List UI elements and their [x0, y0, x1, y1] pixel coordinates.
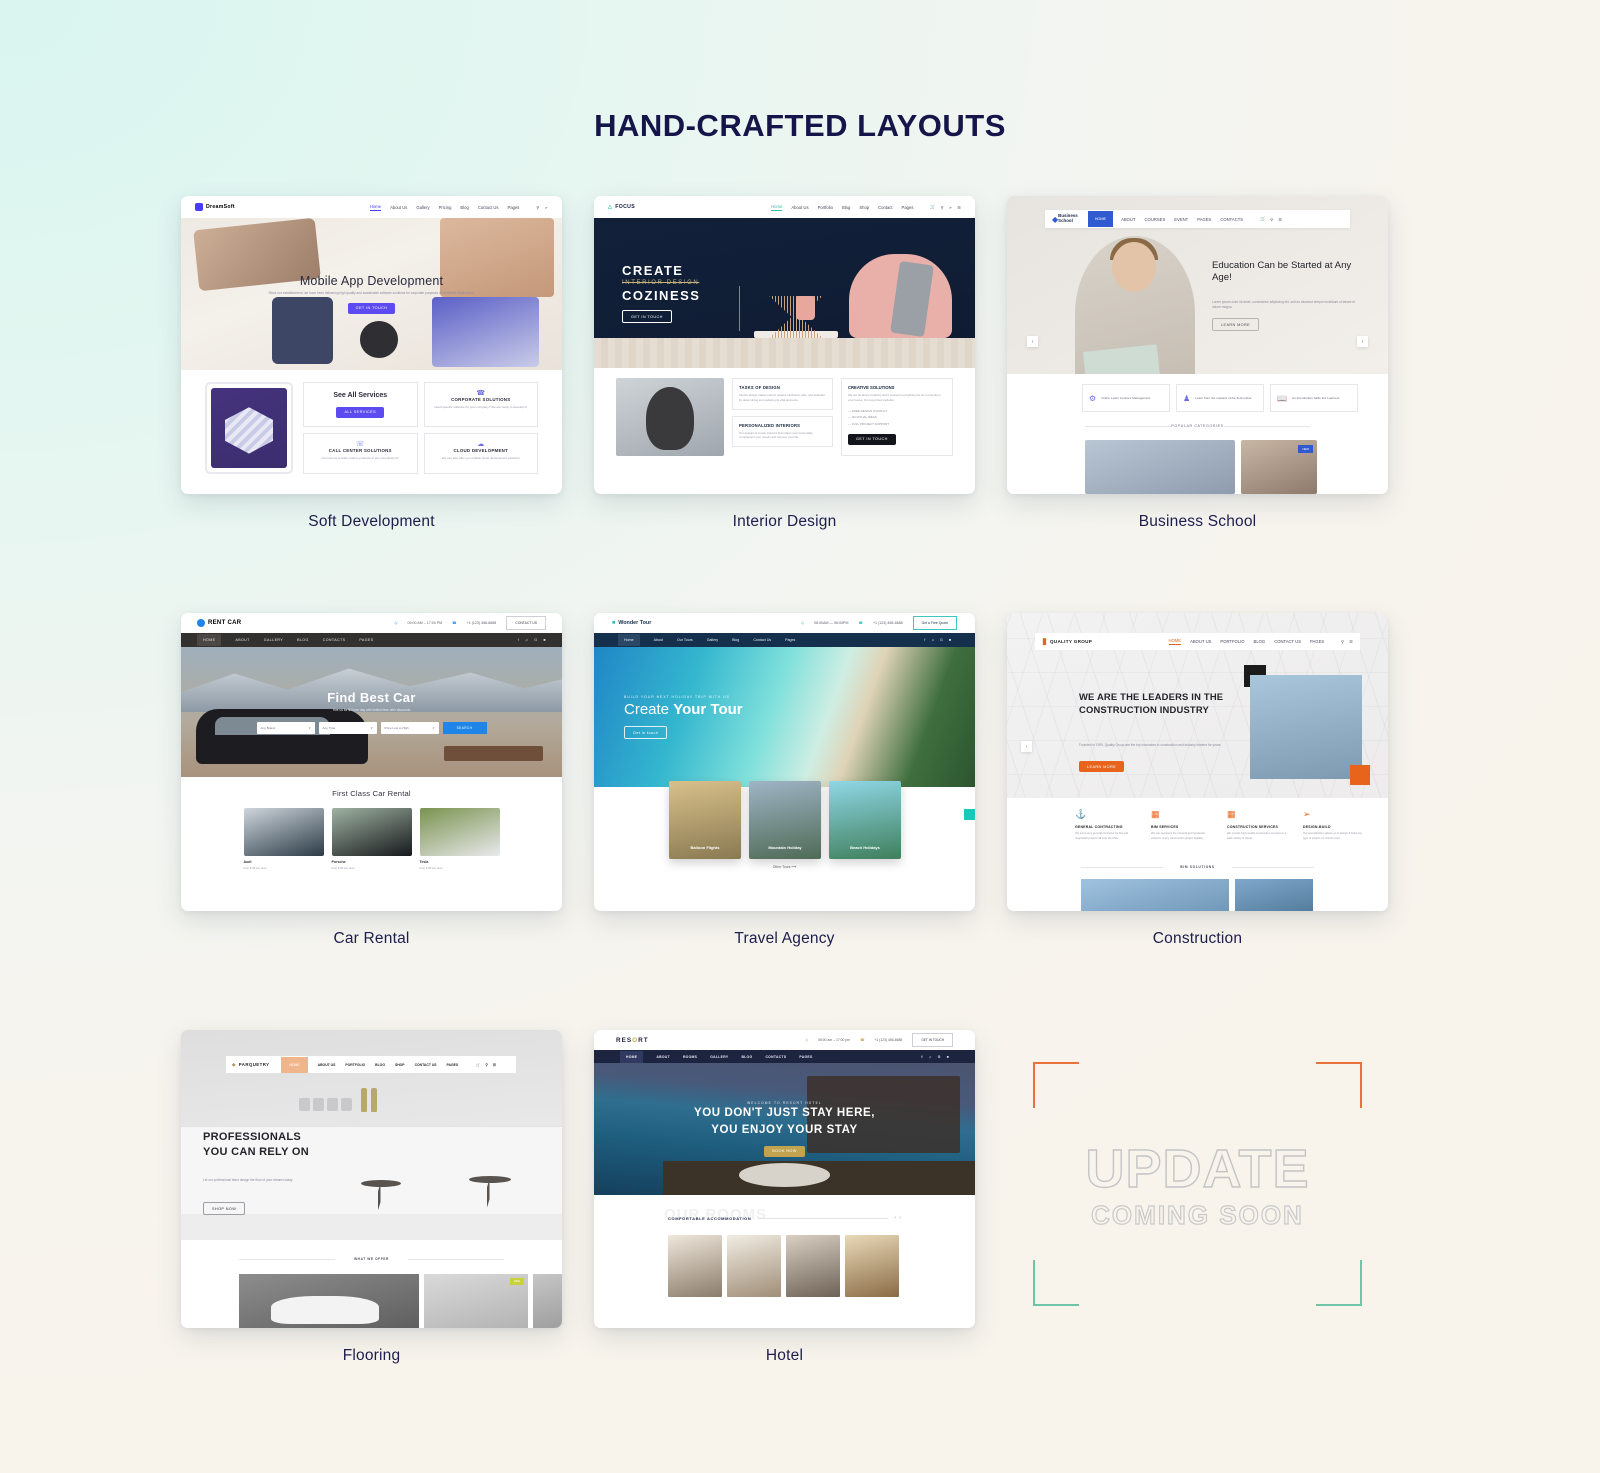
share-icon[interactable]: ➢: [949, 205, 953, 210]
car-photo: [332, 808, 412, 856]
hero-banner: CREATE INTERIOR DESIGN COZINESS GET IN T…: [594, 218, 975, 368]
service-text: Need specific software for your company?…: [430, 405, 533, 410]
site-logo: RENT CAR: [197, 619, 241, 627]
nav-item-shop[interactable]: SHOP: [395, 1063, 405, 1067]
card-label: Hotel: [594, 1347, 975, 1365]
google-plus-icon[interactable]: G: [938, 1055, 941, 1059]
cart-icon[interactable]: 🛒: [476, 1063, 480, 1067]
nav-icons[interactable]: 🛒 ⚲ ➢ ☰: [930, 204, 961, 210]
nav-item-about[interactable]: About Us: [390, 205, 407, 210]
service-item[interactable]: ⚓ GENERAL CONTRACTING We serve as a gene…: [1075, 809, 1137, 841]
carousel-prev-arrow[interactable]: ‹: [895, 1215, 897, 1221]
hero-title: Education Can be Started at Any Age!: [1212, 260, 1372, 285]
isometric-cube-icon: [225, 407, 274, 453]
layout-card-interior-design[interactable]: △ FOCUS Home About Us Portfolio Blog Sho…: [594, 196, 975, 531]
service-title: GENERAL CONTRACTING: [1075, 825, 1137, 829]
nav-item-about[interactable]: ABOUT US: [318, 1063, 336, 1067]
feature-title: CREATIVE SOLUTIONS: [848, 385, 946, 390]
nav-item-courses[interactable]: COURSES: [1145, 217, 1166, 222]
nav-item-home[interactable]: HOME: [1169, 638, 1182, 645]
nav-item-pages[interactable]: Pages: [902, 205, 914, 210]
nav-item-blog[interactable]: Blog: [732, 638, 739, 642]
service-title: CLOUD DEVELOPMENT: [430, 448, 533, 453]
nav-item-pages[interactable]: PAGES: [359, 638, 373, 642]
see-all-tile[interactable]: See All Services ALL SERVICES: [303, 382, 418, 427]
chevron-down-icon: ▾: [433, 726, 435, 730]
preview-flooring[interactable]: ◈ PARQUETRY HOME ABOUT US PORTFOLIO BLOG…: [181, 1030, 562, 1328]
price-select[interactable]: Price Low to High ▾: [381, 722, 439, 734]
contact-info: ◷ 09:00 AM – 17:00 PM ☎ +1 (123) 456-668…: [394, 616, 546, 630]
section-heading: COMFORTABLE ACCOMMODATION: [668, 1216, 751, 1221]
product-thumbnail[interactable]: [239, 1274, 419, 1328]
service-title: CONSTRUCTION SERVICES: [1227, 825, 1289, 829]
nav-item-blog[interactable]: Blog: [460, 205, 468, 210]
shop-now-button[interactable]: SHOP NOW: [203, 1202, 245, 1215]
room-thumbnail[interactable]: [845, 1235, 899, 1297]
nav-item-pages[interactable]: PAGES: [447, 1063, 459, 1067]
new-badge: NEW: [510, 1278, 524, 1285]
phone-number: +1 (123) 456-6688: [467, 621, 497, 625]
facebook-icon[interactable]: f: [924, 638, 925, 642]
nav-item-about[interactable]: About Us: [791, 205, 808, 210]
nav-item-about[interactable]: ABOUT US: [1190, 639, 1211, 644]
service-text: We can also offer you reliable cloud dev…: [430, 456, 533, 461]
carousel-next-arrow[interactable]: ›: [1357, 336, 1368, 347]
facebook-icon[interactable]: f: [921, 1055, 922, 1059]
nav-item-home[interactable]: Home: [618, 634, 640, 646]
hamburger-icon[interactable]: ☰: [957, 205, 961, 210]
nav-item-home[interactable]: HOME: [197, 634, 221, 646]
hero-banner: WELCOME TO RESORT HOTEL YOU DON'T JUST S…: [594, 1063, 975, 1195]
coming-soon-subtitle: COMING SOON: [1007, 1200, 1388, 1231]
hero-line-3: COZINESS: [622, 288, 700, 303]
cloud-icon: ☁: [430, 440, 533, 448]
nav-item-about[interactable]: ABOUT: [1121, 217, 1135, 222]
pots-photo: [299, 1098, 352, 1111]
twitter-icon[interactable]: ♫: [525, 638, 528, 642]
hero-cta-button[interactable]: GET IN TOUCH: [622, 310, 672, 323]
service-item[interactable]: ▦ BIM SERVICES We can represent the phys…: [1151, 809, 1213, 841]
product-thumbnail[interactable]: -50%: [533, 1274, 562, 1328]
corner-bracket-top-left: [1033, 1062, 1079, 1108]
carousel-next-arrow[interactable]: ›: [899, 1215, 901, 1221]
nav-item-our-tours[interactable]: Our Tours: [677, 638, 693, 642]
quality-group-logo-icon: ▮: [1042, 636, 1047, 647]
phone-number: +1 (123) 456-6688: [873, 621, 903, 625]
project-thumbnail[interactable]: [1081, 879, 1229, 911]
facebook-icon[interactable]: f: [518, 638, 519, 642]
stool-photo: [469, 1176, 511, 1236]
hero-line-2: INTERIOR DESIGN: [622, 280, 699, 286]
get-quote-button[interactable]: Get a Free Quote: [913, 616, 957, 630]
site-nav[interactable]: ABOUT US PORTFOLIO BLOG SHOP CONTACT US …: [318, 1063, 496, 1067]
book-now-button[interactable]: BOOK NOW: [764, 1146, 805, 1157]
layout-card-flooring[interactable]: ◈ PARQUETRY HOME ABOUT US PORTFOLIO BLOG…: [181, 1030, 562, 1365]
hero-title: Mobile App Development: [300, 274, 443, 288]
opening-hours: 08:00AM — 06:00PM: [814, 621, 848, 625]
carousel-arrows[interactable]: ‹ ›: [895, 1215, 901, 1221]
nav-item-contacts[interactable]: CONTACTS: [765, 1055, 786, 1059]
coming-soon-title: UPDATE: [1007, 1138, 1388, 1200]
card-label: Interior Design: [594, 513, 975, 531]
hero-title: PROFESSIONALS YOU CAN RELY ON: [203, 1130, 309, 1160]
cart-icon[interactable]: 🛒: [930, 204, 935, 210]
hero-title: YOU DON'T JUST STAY HERE, YOU ENJOY YOUR…: [694, 1105, 875, 1138]
page-title: HAND-CRAFTED LAYOUTS: [0, 108, 1600, 144]
hero-title: Find Best Car: [327, 690, 415, 705]
search-icon[interactable]: ⚲: [1341, 639, 1344, 644]
graduation-icon: ⚙: [1089, 394, 1096, 403]
status-badge: NEW: [1298, 445, 1313, 453]
feature-column: TASKS OF DESIGN Interior design makes in…: [732, 378, 833, 456]
chevron-down-icon: ▾: [371, 726, 373, 730]
nav-item-blog[interactable]: BLOG: [375, 1063, 385, 1067]
type-select[interactable]: Any Type ▾: [319, 722, 377, 734]
list-item: — FULL PROJECT SUPPORT: [848, 421, 946, 428]
hero-banner: Mobile App Development Since our establi…: [181, 218, 562, 370]
layouts-row-3: ◈ PARQUETRY HOME ABOUT US PORTFOLIO BLOG…: [181, 1030, 1389, 1365]
hero-title: Create Your Tour: [624, 701, 743, 718]
cars-section: First Class Car Rental Audi from $ 45 pe…: [181, 777, 562, 882]
hamburger-icon[interactable]: ☰: [1349, 639, 1353, 644]
corner-bracket-bottom-left: [1033, 1260, 1079, 1306]
nav-item-home[interactable]: Home: [370, 204, 381, 211]
section-heading: POPULAR CATEGORIES: [1007, 424, 1388, 428]
hero-title: WE ARE THE LEADERS IN THE CONSTRUCTION I…: [1079, 691, 1244, 716]
hero-content: CREATE INTERIOR DESIGN COZINESS GET IN T…: [594, 218, 975, 368]
feature-tile[interactable]: PERSONALIZED INTERIORS Our designers cre…: [732, 416, 833, 448]
nav-item-blog[interactable]: BLOG: [297, 638, 309, 642]
nav-item-about[interactable]: About: [654, 638, 663, 642]
hero-subtitle: Since our establishment, we have been de…: [267, 291, 477, 296]
car-item[interactable]: Audi from $ 45 per hour: [244, 808, 324, 870]
share-icon[interactable]: ➢: [544, 205, 548, 210]
all-services-button[interactable]: ALL SERVICES: [336, 407, 384, 418]
social-icons[interactable]: f ♫ G ■: [518, 638, 546, 642]
layout-card-soft-development[interactable]: DreamSoft Home About Us Gallery Pricing …: [181, 196, 562, 531]
room-thumbnail[interactable]: [786, 1235, 840, 1297]
building-icon: ▦: [1227, 809, 1289, 820]
site-nav[interactable]: Home About Us Gallery Pricing Blog Conta…: [370, 204, 548, 211]
phone-icon: ☎: [452, 621, 456, 625]
carousel-prev-arrow[interactable]: ‹: [1021, 741, 1032, 752]
teacher-icon: ♟: [1183, 394, 1190, 403]
nav-item-contact[interactable]: CONTACT US: [1274, 639, 1301, 644]
nav-item-shop[interactable]: Shop: [859, 205, 869, 210]
brand-select[interactable]: Any Brand ▾: [257, 722, 315, 734]
nav-icons[interactable]: 🛒 ⚲ ☰: [476, 1063, 496, 1067]
service-text: Our experts provide custom products of a…: [309, 456, 412, 461]
site-nav[interactable]: HOME ABOUT US PORTFOLIO BLOG CONTACT US …: [1169, 638, 1353, 645]
google-plus-icon[interactable]: G: [534, 638, 537, 642]
face-shape: [1112, 242, 1156, 292]
layout-card-business-school[interactable]: ◆ Business School HOME ABOUT COURSES EVE…: [1007, 196, 1388, 531]
car-price: from $ 65 per hour: [332, 866, 412, 870]
clock-icon: ◷: [801, 621, 804, 625]
search-icon[interactable]: ⚲: [536, 205, 539, 210]
search-icon[interactable]: ⚲: [1270, 217, 1273, 222]
service-title: BIM SERVICES: [1151, 825, 1213, 829]
nav-item-contacts[interactable]: CONTACTS: [1220, 217, 1243, 222]
nav-item-about[interactable]: ABOUT: [656, 1055, 670, 1059]
feature-list: — FREE DESIGN CONSULT — 3D VISUAL IDEAS …: [848, 408, 946, 428]
feature-text: Interior design makes interior spaces fu…: [739, 393, 826, 403]
hero-content: Mobile App Development Since our establi…: [181, 218, 562, 370]
tour-card[interactable]: Balloon Flights: [669, 781, 741, 859]
service-tile[interactable]: ☎ CORPORATE SOLUTIONS Need specific soft…: [424, 382, 539, 427]
site-logo: △ FOCUS: [608, 204, 635, 210]
nav-item-portfolio[interactable]: Portfolio: [818, 205, 833, 210]
divider-line: [758, 1218, 887, 1219]
tablet-illustration: [205, 382, 293, 474]
nav-item-contacts[interactable]: CONTACTS: [323, 638, 346, 642]
twitter-icon[interactable]: ♫: [931, 638, 934, 642]
nav-item-pages[interactable]: Pages: [508, 205, 520, 210]
tour-cards: Balloon Flights Mountain Holiday Beach H…: [669, 781, 901, 859]
contact-info: ◷ 08:00 am – 17:00 pm ☎ +1 (123) 456-668…: [805, 1033, 953, 1047]
nav-item-home[interactable]: HOME: [620, 1051, 643, 1063]
nav-item-about[interactable]: ABOUT: [235, 638, 249, 642]
car-item[interactable]: Tesla from $ 55 per hour: [420, 808, 500, 870]
hero-banner: BUILD YOUR NEXT HOLIDAY TRIP WITH US Cre…: [594, 647, 975, 787]
hero-subtitle: Let our professional team design the flo…: [203, 1178, 318, 1183]
layout-card-construction[interactable]: ▮ QUALITY GROUP HOME ABOUT US PORTFOLIO …: [1007, 613, 1388, 948]
nav-item-gallery[interactable]: GALLERY: [710, 1055, 728, 1059]
site-topbar: ◈ PARQUETRY HOME ABOUT US PORTFOLIO BLOG…: [226, 1056, 516, 1073]
illustration-canvas: [211, 388, 287, 468]
nav-item-pages[interactable]: PAGES: [1197, 217, 1211, 222]
service-tile[interactable]: ☏ CALL CENTER SOLUTIONS Our experts prov…: [303, 433, 418, 474]
site-topbar: RESORT ◷ 08:00 am – 17:00 pm ☎ +1 (123) …: [594, 1030, 975, 1050]
section-heading: WHAT WE OFFER: [181, 1257, 562, 1261]
coming-soon-placeholder: UPDATE COMING SOON: [1007, 1030, 1388, 1328]
instagram-icon[interactable]: ■: [947, 1055, 949, 1059]
section-heading: First Class Car Rental: [181, 789, 562, 798]
feature-tile[interactable]: ⚙ Online Learn Courses Management: [1082, 384, 1170, 412]
clock-icon: ◷: [805, 1038, 808, 1042]
tour-name: Mountain Holiday: [749, 845, 821, 850]
wondertour-logo-icon: ■: [612, 620, 615, 626]
preview-construction[interactable]: ▮ QUALITY GROUP HOME ABOUT US PORTFOLIO …: [1007, 613, 1388, 911]
hero-eyebrow: BUILD YOUR NEXT HOLIDAY TRIP WITH US: [624, 695, 730, 699]
preview-interior-design[interactable]: △ FOCUS Home About Us Portfolio Blog Sho…: [594, 196, 975, 494]
list-item: — FREE DESIGN CONSULT: [848, 408, 946, 415]
instagram-icon[interactable]: ■: [543, 638, 546, 642]
layouts-row-2: RENT CAR ◷ 09:00 AM – 17:00 PM ☎ +1 (123…: [181, 613, 1389, 948]
feature-tile[interactable]: 📖 An Introduction Skills For Learners: [1270, 384, 1358, 412]
category-thumbnail[interactable]: NEW: [1241, 440, 1317, 494]
card-label: Construction: [1007, 930, 1388, 948]
nav-item-gallery[interactable]: Gallery: [416, 205, 429, 210]
nav-item-blog[interactable]: BLOG: [741, 1055, 752, 1059]
car-item[interactable]: Porsche from $ 65 per hour: [332, 808, 412, 870]
service-title: CALL CENTER SOLUTIONS: [309, 448, 412, 453]
get-in-touch-button[interactable]: GET IN TOUCH: [848, 434, 896, 445]
nav-item-home[interactable]: HOME: [1088, 211, 1113, 227]
preview-business-school[interactable]: ◆ Business School HOME ABOUT COURSES EVE…: [1007, 196, 1388, 494]
service-text: We provide high-quality construction ser…: [1227, 832, 1289, 841]
nav-item-home[interactable]: HOME: [281, 1057, 307, 1073]
hero-cta-button[interactable]: GET IN TOUCH: [348, 303, 396, 314]
site-logo: RESORT: [616, 1037, 649, 1044]
nav-item-contact[interactable]: Contact Us: [753, 638, 771, 642]
learn-more-button[interactable]: LEARN MORE: [1212, 318, 1259, 331]
feature-tiles: ⚙ Online Learn Courses Management ♟ Lear…: [1082, 384, 1358, 412]
hamburger-icon[interactable]: ☰: [1278, 217, 1282, 222]
hero-line-1: CREATE: [622, 263, 683, 278]
other-tours-link[interactable]: Other Tours ⟶: [594, 865, 975, 869]
crane-icon: ⚓: [1075, 809, 1137, 820]
search-form[interactable]: Any Brand ▾ Any Type ▾ Price Low to High…: [257, 722, 487, 734]
nav-item-pricing[interactable]: Pricing: [439, 205, 452, 210]
tour-name: Balloon Flights: [669, 845, 741, 850]
nav-item-home[interactable]: Home: [771, 204, 782, 211]
feature-tile[interactable]: TASKS OF DESIGN Interior design makes in…: [732, 378, 833, 410]
service-title: CORPORATE SOLUTIONS: [430, 397, 533, 402]
opening-hours: 08:00 am – 17:00 pm: [818, 1038, 850, 1042]
nav-icons[interactable]: ⚲ ➢: [536, 205, 548, 210]
nav-item-gallery[interactable]: GALLERY: [264, 638, 283, 642]
layout-card-coming-soon: UPDATE COMING SOON: [1007, 1030, 1388, 1365]
site-nav[interactable]: Home About Our Tours Gallery Blog Contac…: [594, 633, 975, 647]
bottles-photo: [361, 1088, 377, 1112]
tour-card[interactable]: Mountain Holiday: [749, 781, 821, 859]
site-topbar: ▮ QUALITY GROUP HOME ABOUT US PORTFOLIO …: [1035, 633, 1360, 650]
service-list: ⚓ GENERAL CONTRACTING We serve as a gene…: [1075, 809, 1365, 841]
nav-item-portfolio[interactable]: PORTFOLIO: [345, 1063, 365, 1067]
room-thumbnail[interactable]: [668, 1235, 722, 1297]
room-thumbnail[interactable]: [727, 1235, 781, 1297]
service-text: We serve as a general contractor for bid…: [1075, 832, 1137, 841]
car-list: Audi from $ 45 per hour Porsche from $ 6…: [181, 808, 562, 870]
feature-tile[interactable]: ♟ Learn from the masters of the field on…: [1176, 384, 1264, 412]
category-thumbnail[interactable]: [1085, 440, 1235, 494]
car-name: Audi: [244, 860, 324, 864]
card-label: Travel Agency: [594, 930, 975, 948]
site-nav[interactable]: HOME ABOUT GALLERY BLOG CONTACTS PAGES f…: [181, 633, 562, 647]
hero-content: WELCOME TO RESORT HOTEL YOU DON'T JUST S…: [594, 1063, 975, 1195]
site-nav[interactable]: HOME ABOUT ROOMS GALLERY BLOG CONTACTS P…: [594, 1050, 975, 1063]
site-topbar: DreamSoft Home About Us Gallery Pricing …: [181, 196, 562, 218]
product-thumbnails: NEW -50%: [239, 1274, 562, 1328]
project-thumbnail[interactable]: [1235, 879, 1313, 911]
list-item: — 3D VISUAL IDEAS: [848, 414, 946, 421]
site-topbar: ◆ Business School HOME ABOUT COURSES EVE…: [1045, 210, 1350, 228]
service-text: Our specialization allows us to design &…: [1303, 832, 1365, 841]
corner-bracket-bottom-right: [1316, 1260, 1362, 1306]
tour-card[interactable]: Beach Holidays: [829, 781, 901, 859]
nav-item-gallery[interactable]: Gallery: [707, 638, 718, 642]
learn-more-button[interactable]: LEARN MORE: [1079, 761, 1124, 772]
nav-item-contact[interactable]: Contact Us: [478, 205, 499, 210]
hamburger-icon[interactable]: ☰: [493, 1063, 496, 1067]
search-icon[interactable]: ⚲: [485, 1063, 487, 1067]
site-nav[interactable]: ABOUT COURSES EVENT PAGES CONTACTS 🛒 ⚲ ☰: [1121, 216, 1282, 222]
card-label: Car Rental: [181, 930, 562, 948]
room-thumbnails: [668, 1235, 899, 1297]
site-logo: ■ Wonder Tour: [612, 620, 651, 626]
hero-content: Find Best Car Hire us for $10 per day wi…: [181, 647, 562, 777]
carousel-prev-arrow[interactable]: ‹: [1027, 336, 1038, 347]
service-item[interactable]: ➢ DESIGN-BUILD Our specialization allows…: [1303, 809, 1365, 841]
car-price: from $ 45 per hour: [244, 866, 324, 870]
nav-item-event[interactable]: EVENT: [1174, 217, 1188, 222]
preview-travel-agency[interactable]: ■ Wonder Tour ◷ 08:00AM — 06:00PM ☎ +1 (…: [594, 613, 975, 911]
category-thumbnails: NEW: [1085, 440, 1317, 494]
nav-item-pages[interactable]: PAGES: [799, 1055, 812, 1059]
service-item[interactable]: ▦ CONSTRUCTION SERVICES We provide high-…: [1227, 809, 1289, 841]
services-section: See All Services ALL SERVICES ☎ CORPORAT…: [181, 370, 562, 486]
site-topbar: ■ Wonder Tour ◷ 08:00AM — 06:00PM ☎ +1 (…: [594, 613, 975, 633]
opening-hours: 09:00 AM – 17:00 PM: [408, 621, 443, 625]
site-nav[interactable]: Home About Us Portfolio Blog Shop Contac…: [771, 204, 961, 211]
nav-icons[interactable]: 🛒 ⚲ ☰: [1260, 216, 1282, 222]
accent-square: [964, 809, 975, 820]
nav-item-contact[interactable]: Contact: [878, 205, 892, 210]
product-thumbnail[interactable]: NEW: [424, 1274, 528, 1328]
designer-portrait-photo: [616, 378, 724, 456]
instagram-icon[interactable]: ■: [949, 638, 951, 642]
search-icon[interactable]: ⚲: [941, 205, 944, 210]
car-photo: [420, 808, 500, 856]
feature-text: Our designers create interiors that refl…: [739, 431, 826, 441]
twitter-icon[interactable]: ♫: [929, 1055, 932, 1059]
car-price: from $ 55 per hour: [420, 866, 500, 870]
feature-text: An Introduction Skills For Learners: [1292, 396, 1339, 401]
site-topbar: △ FOCUS Home About Us Portfolio Blog Sho…: [594, 196, 975, 218]
hero-subtitle: Hire us for $10 per day with limited tim…: [333, 708, 411, 713]
nav-item-pages[interactable]: Pages: [785, 638, 795, 642]
decor-orange-square: [1350, 765, 1370, 785]
clock-icon: ◷: [394, 621, 397, 625]
layout-card-travel-agency[interactable]: ■ Wonder Tour ◷ 08:00AM — 06:00PM ☎ +1 (…: [594, 613, 975, 948]
nav-item-pages[interactable]: PAGES: [1310, 639, 1324, 644]
layout-card-car-rental[interactable]: RENT CAR ◷ 09:00 AM – 17:00 PM ☎ +1 (123…: [181, 613, 562, 948]
design-build-icon: ➢: [1303, 809, 1365, 820]
search-button[interactable]: SEARCH: [443, 722, 487, 734]
cart-icon[interactable]: 🛒: [1260, 216, 1265, 222]
phone-icon: ☎: [860, 1038, 864, 1042]
social-icons[interactable]: f ♫ G ■: [924, 638, 951, 642]
google-plus-icon[interactable]: G: [940, 638, 943, 642]
nav-icons[interactable]: ⚲ ☰: [1341, 639, 1353, 644]
nav-item-blog[interactable]: BLOG: [1254, 639, 1266, 644]
card-label: Flooring: [181, 1347, 562, 1365]
preview-soft-development[interactable]: DreamSoft Home About Us Gallery Pricing …: [181, 196, 562, 494]
see-all-title: See All Services: [333, 392, 387, 401]
card-label: Business School: [1007, 513, 1388, 531]
layout-card-hotel[interactable]: RESORT ◷ 08:00 am – 17:00 pm ☎ +1 (123) …: [594, 1030, 975, 1365]
nav-item-portfolio[interactable]: PORTFOLIO: [1220, 639, 1244, 644]
social-icons[interactable]: f ♫ G ■: [921, 1055, 949, 1059]
get-in-touch-button[interactable]: GET IN TOUCH: [912, 1033, 953, 1047]
creative-solutions-tile[interactable]: CREATIVE SOLUTIONS We are all about crea…: [841, 378, 953, 456]
nav-item-contact[interactable]: CONTACT US: [415, 1063, 437, 1067]
preview-car-rental[interactable]: RENT CAR ◷ 09:00 AM – 17:00 PM ☎ +1 (123…: [181, 613, 562, 911]
preview-hotel[interactable]: RESORT ◷ 08:00 am – 17:00 pm ☎ +1 (123) …: [594, 1030, 975, 1328]
dreamsoft-logo-icon: [195, 203, 203, 211]
nav-item-rooms[interactable]: ROOMS: [683, 1055, 697, 1059]
chevron-down-icon: ▾: [309, 726, 311, 730]
contact-us-button[interactable]: CONTACT US: [506, 616, 546, 630]
hero-cta-button[interactable]: Get in touch: [624, 726, 667, 739]
hero-subtitle: Founded in 1995, Quality Group are the t…: [1079, 743, 1229, 748]
section-heading-row: COMFORTABLE ACCOMMODATION ‹ ›: [668, 1215, 901, 1221]
nav-item-blog[interactable]: Blog: [842, 205, 850, 210]
car-photo: [244, 808, 324, 856]
service-tiles: See All Services ALL SERVICES ☎ CORPORAT…: [303, 382, 538, 474]
service-tile[interactable]: ☁ CLOUD DEVELOPMENT We can also offer yo…: [424, 433, 539, 474]
